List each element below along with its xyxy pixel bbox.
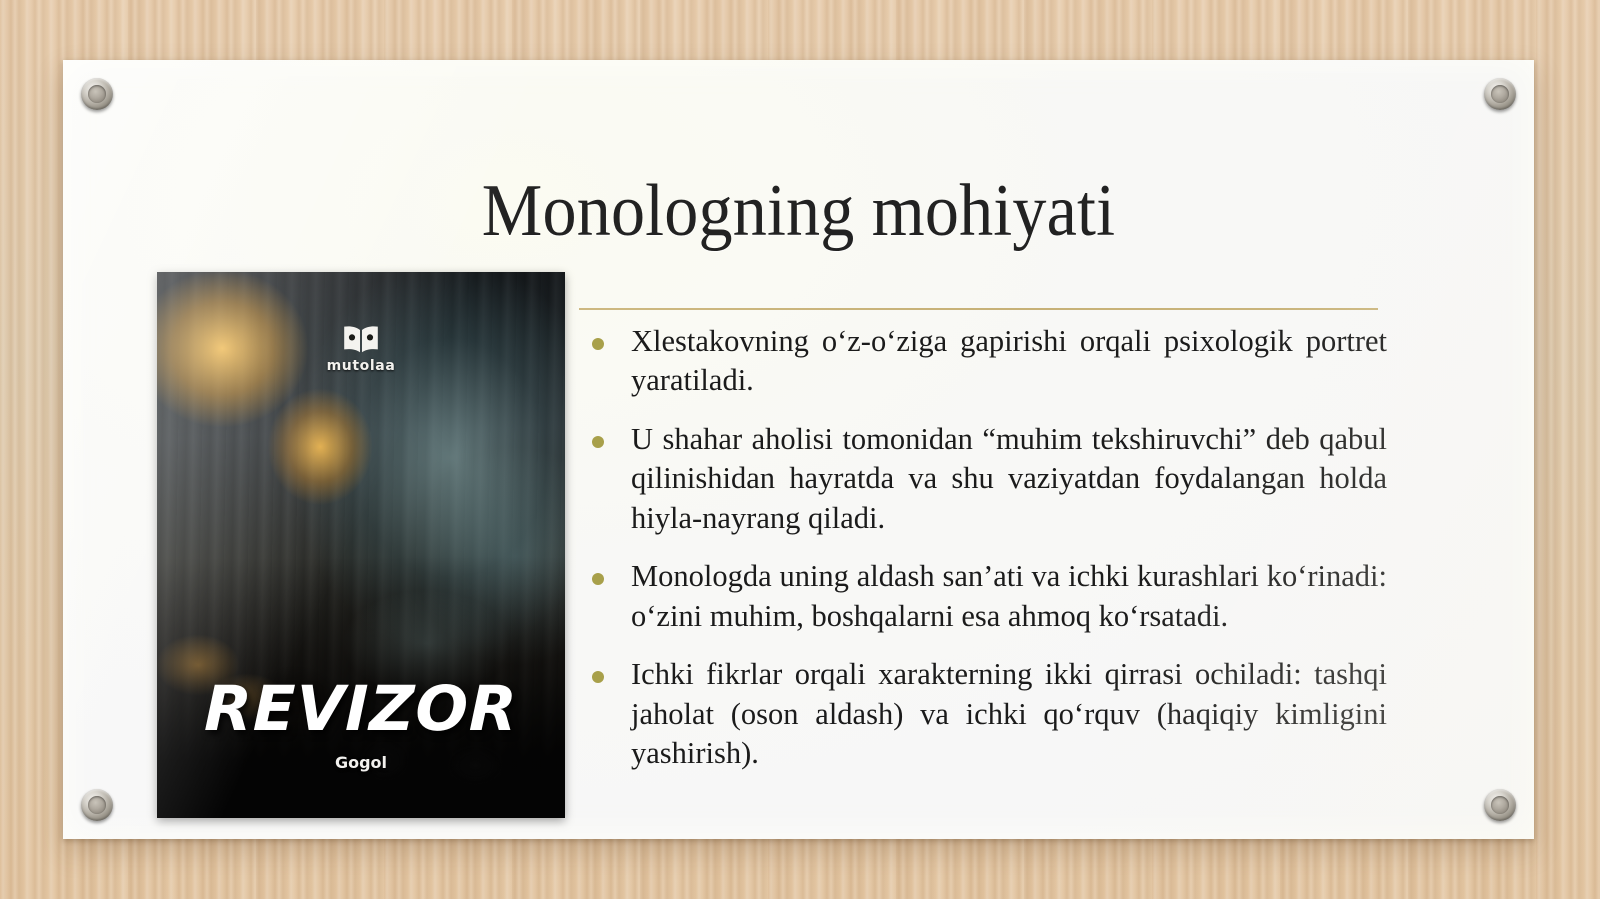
book-cover-image: mutolaa REVIZOR Gogol — [157, 272, 565, 818]
slide-board-panel: Monologning mohiyati mutolaa REVIZOR Gog… — [63, 60, 1534, 839]
title-divider-rule — [579, 308, 1378, 310]
screw-bottom-left-icon — [81, 789, 113, 821]
book-author: Gogol — [157, 753, 565, 772]
list-item: Monologda uning aldash san’ati va ichki … — [579, 557, 1387, 636]
page-title: Monologning mohiyati — [122, 172, 1475, 250]
screw-top-right-icon — [1484, 78, 1516, 110]
mutolaa-logo-text: mutolaa — [157, 358, 565, 374]
bullet-dot-icon — [592, 436, 604, 448]
bullet-list: Xlestakovning o‘z-o‘ziga gapirishi orqal… — [579, 322, 1387, 774]
list-item: U shahar aholisi tomonidan “muhim tekshi… — [579, 420, 1387, 538]
open-book-icon — [341, 324, 381, 354]
bullet-dot-icon — [592, 338, 604, 350]
list-item: Xlestakovning o‘z-o‘ziga gapirishi orqal… — [579, 322, 1387, 401]
screw-top-left-icon — [81, 78, 113, 110]
book-title: REVIZOR — [157, 678, 565, 740]
bullet-dot-icon — [592, 671, 604, 683]
list-item-text: U shahar aholisi tomonidan “muhim tekshi… — [631, 420, 1387, 538]
book-cover-caption: REVIZOR Gogol — [157, 678, 565, 772]
list-item-text: Xlestakovning o‘z-o‘ziga gapirishi orqal… — [631, 322, 1387, 401]
mutolaa-logo: mutolaa — [157, 324, 565, 374]
list-item-text: Monologda uning aldash san’ati va ichki … — [631, 557, 1387, 636]
screw-bottom-right-icon — [1484, 789, 1516, 821]
list-item-text: Ichki fikrlar orqali xarakterning ikki q… — [631, 655, 1387, 773]
bullet-dot-icon — [592, 573, 604, 585]
list-item: Ichki fikrlar orqali xarakterning ikki q… — [579, 655, 1387, 773]
